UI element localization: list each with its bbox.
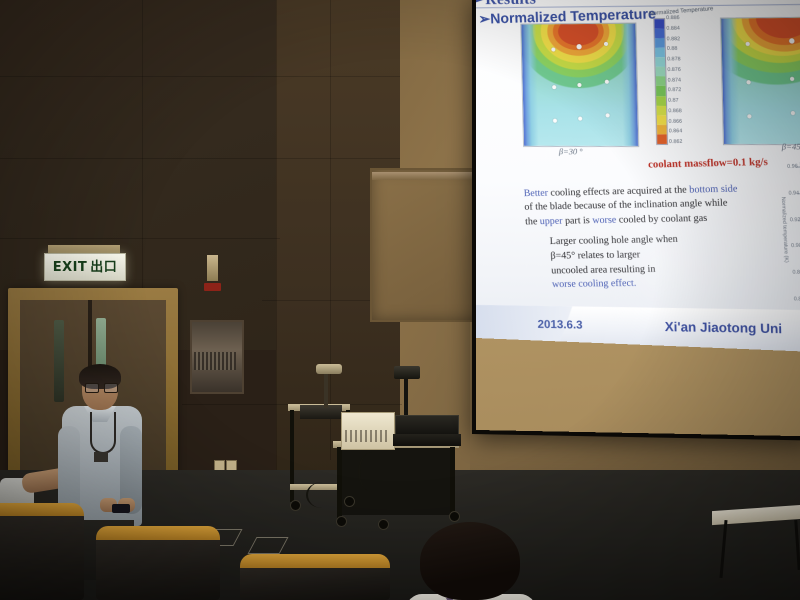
slide-heading-text: Results bbox=[485, 0, 536, 8]
alarm-device bbox=[207, 255, 218, 281]
exit-sign-label-en: EXIT bbox=[53, 261, 88, 274]
footer-date: 2013.6.3 bbox=[537, 318, 582, 331]
audience-hair bbox=[420, 522, 520, 600]
eyeglasses-icon bbox=[85, 383, 116, 391]
colorbar-tick: 0.862 bbox=[669, 140, 701, 145]
document-camera-arm bbox=[404, 375, 408, 415]
sub-line1: Larger cooling hole angle when bbox=[550, 234, 678, 247]
cart-caster bbox=[378, 519, 389, 530]
wall-seam bbox=[276, 0, 277, 470]
colorbar-tick: 0.876 bbox=[667, 67, 699, 72]
fire-alarm-icon bbox=[204, 283, 221, 291]
av-cart-body bbox=[337, 447, 455, 515]
colorbar-tick: 0.87 bbox=[668, 98, 700, 103]
colorbar-tick: 0.882 bbox=[667, 36, 699, 42]
seat-trim bbox=[240, 554, 390, 568]
contour-plot-beta45 bbox=[720, 17, 800, 146]
contour-edge-shading bbox=[721, 18, 800, 145]
lecture-hall-photo: EXIT 出口 bbox=[0, 0, 800, 600]
colorbar-swatch bbox=[657, 134, 667, 144]
body-line1-a: Better bbox=[524, 188, 549, 199]
cooling-hole bbox=[747, 114, 751, 118]
massflow-annotation: coolant massflow=0.1 kg/s bbox=[648, 156, 768, 170]
cooling-hole bbox=[577, 83, 581, 87]
body-line3-c: part is bbox=[562, 216, 592, 227]
colorbar-tick: 0.872 bbox=[668, 88, 700, 93]
document-camera-head bbox=[394, 366, 420, 379]
cooling-hole bbox=[605, 80, 609, 84]
body-line3-b: upper bbox=[540, 216, 563, 227]
body-line3-e: cooled by coolant gas bbox=[616, 213, 707, 225]
cooling-hole bbox=[551, 47, 555, 51]
colorbar-swatch bbox=[654, 19, 664, 29]
colorbar-tick: 0.874 bbox=[668, 78, 700, 83]
colorbar-swatch bbox=[656, 86, 666, 96]
colorbar-swatch bbox=[656, 96, 666, 106]
colorbar-tick: 0.878 bbox=[667, 57, 699, 62]
cooling-hole bbox=[790, 77, 794, 81]
colorbar-swatch bbox=[655, 29, 665, 39]
presenter-lanyard bbox=[90, 412, 116, 454]
axis-tick-label: 0.86 bbox=[794, 296, 800, 303]
cooling-hole bbox=[578, 117, 582, 121]
body-line3-a: the bbox=[525, 217, 540, 228]
overhead-projector-arm bbox=[324, 372, 328, 408]
wall-seam bbox=[0, 158, 400, 159]
cooling-hole bbox=[791, 111, 795, 115]
colorbar-swatch bbox=[655, 48, 665, 58]
body-line3-d: worse bbox=[592, 215, 617, 226]
colorbar-tick: 0.884 bbox=[666, 26, 698, 32]
colorbar-tick: 0.864 bbox=[669, 129, 701, 134]
exit-sign: EXIT 出口 bbox=[44, 253, 126, 281]
axis-tick-label: 0.92 bbox=[790, 216, 800, 223]
colorbar-tick-labels: 0.8860.8840.8820.880.8780.8760.8740.8720… bbox=[666, 16, 701, 145]
cooling-hole bbox=[604, 42, 608, 46]
sub-line3: uncooled area resulting in bbox=[551, 264, 656, 276]
seat-trim bbox=[0, 503, 84, 516]
body-line1-c: bottom side bbox=[689, 184, 738, 196]
cooling-hole bbox=[553, 119, 557, 123]
exit-sign-label-zh: 出口 bbox=[90, 261, 117, 274]
footer-organization: Xi'an Jiaotong Uni bbox=[665, 319, 783, 336]
wall-seam bbox=[0, 76, 400, 77]
slide-body-paragraph: Better cooling effects are acquired at t… bbox=[523, 182, 771, 230]
cable bbox=[306, 482, 338, 508]
axis-title: Normalized temperature (K) bbox=[780, 197, 790, 263]
body-line1-b: cooling effects are acquired at the bbox=[548, 185, 690, 199]
colorbar-swatch bbox=[657, 115, 667, 125]
door-glass-panel bbox=[54, 320, 64, 402]
colorbar-swatch bbox=[657, 125, 667, 135]
projected-slide: ➢Results ➢Normalized Temperature β=30 ° bbox=[476, 0, 800, 352]
wall-seam bbox=[0, 238, 280, 239]
presenter-badge bbox=[94, 452, 108, 462]
plot-label-beta30: β=30 ° bbox=[559, 147, 583, 156]
wall-seam bbox=[330, 0, 331, 460]
projector-unit bbox=[395, 415, 459, 435]
sub-line4: worse cooling effect. bbox=[552, 279, 637, 291]
axis-tick-label: 0.94 bbox=[788, 190, 799, 197]
colorbar-swatch bbox=[655, 38, 665, 48]
colorbar-swatch bbox=[656, 67, 666, 77]
cooling-hole bbox=[789, 38, 795, 43]
cooling-hole bbox=[576, 44, 581, 49]
presentation-clicker[interactable] bbox=[112, 504, 130, 513]
cart-caster bbox=[344, 496, 355, 507]
box-label bbox=[345, 430, 389, 442]
cart-caster bbox=[449, 511, 460, 522]
cooling-hole bbox=[605, 113, 609, 117]
cart-leg bbox=[450, 447, 455, 515]
axis-tick-label: 0.96 bbox=[787, 163, 798, 170]
av-receiver-unit bbox=[393, 434, 461, 446]
axis-tick-label: 0.90 bbox=[791, 243, 800, 250]
colorbar-tick: 0.886 bbox=[666, 16, 698, 22]
cooling-hole bbox=[552, 85, 556, 89]
colorbar-tick: 0.866 bbox=[669, 119, 701, 124]
overhead-projector-head bbox=[316, 364, 342, 374]
cooling-hole bbox=[745, 42, 749, 46]
cart-caster bbox=[336, 516, 347, 527]
cable bbox=[358, 452, 386, 492]
contour-plot-beta30 bbox=[520, 23, 639, 147]
presenter-arm bbox=[58, 426, 80, 514]
slide-sub-paragraph: Larger cooling hole angle when β=45° rel… bbox=[549, 232, 766, 294]
colorbar-swatch bbox=[655, 57, 665, 67]
cooling-hole bbox=[746, 80, 750, 84]
sub-line2: β=45° relates to larger bbox=[550, 250, 640, 262]
axis-tick-label: 0.88 bbox=[792, 269, 800, 276]
cart-leg bbox=[337, 447, 342, 519]
bullet-arrow-icon: ➢ bbox=[476, 0, 485, 8]
auditorium-seat bbox=[0, 505, 84, 600]
picture-detail bbox=[194, 352, 236, 370]
colorbar-tick: 0.88 bbox=[667, 47, 699, 53]
colorbar-swatch bbox=[656, 77, 666, 87]
colorbar-tick: 0.868 bbox=[668, 109, 700, 114]
plot-label-beta45: β=45° bbox=[782, 142, 800, 152]
seat-trim bbox=[96, 526, 220, 540]
colorbar-swatch bbox=[656, 105, 666, 115]
overhead-projector-base bbox=[300, 405, 342, 419]
slide-heading: ➢Results bbox=[476, 0, 536, 9]
body-line2: of the blade because of the inclination … bbox=[524, 199, 728, 214]
secondary-axis: Normalized temperature (K) 0.960.940.920… bbox=[776, 160, 800, 310]
cart-caster bbox=[290, 500, 301, 511]
